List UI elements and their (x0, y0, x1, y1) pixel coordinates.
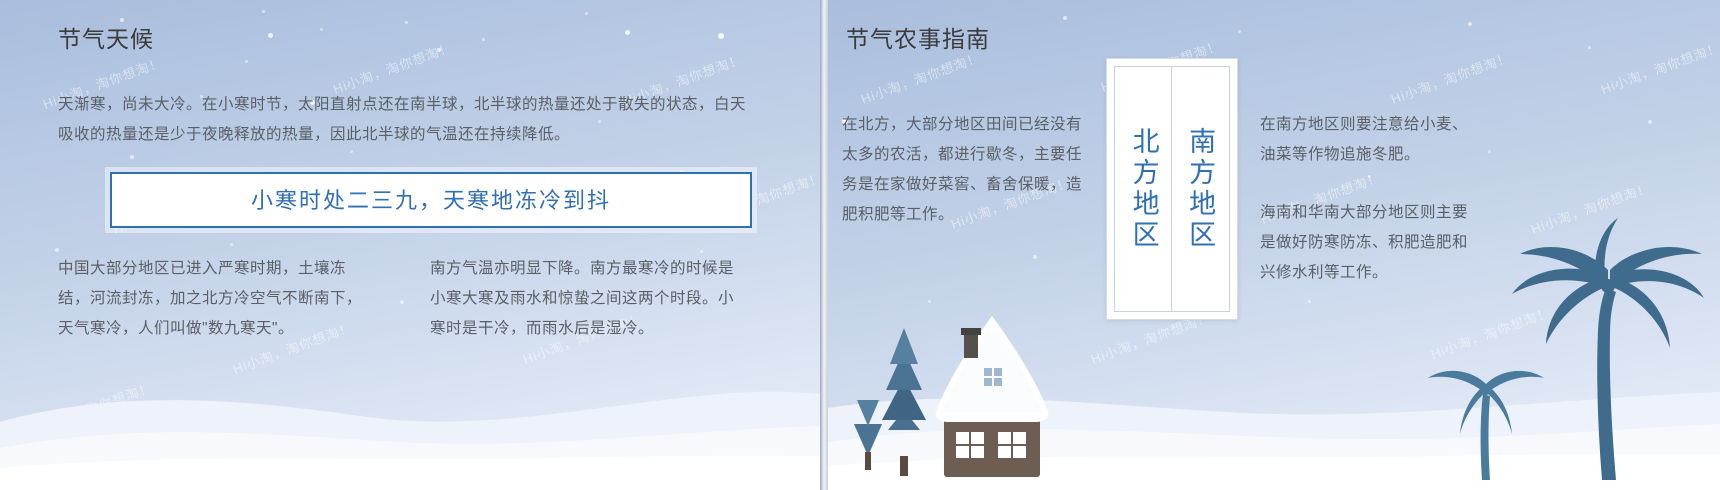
snow-dot (1648, 120, 1652, 124)
right-page: Hi小淘，淘你想淘！ Hi小淘，淘你想淘！ Hi小淘，淘你想淘！ Hi小淘，淘你… (828, 0, 1720, 490)
sign-north-label: 北方地区 (1128, 127, 1157, 251)
left-page-title: 节气天候 (58, 20, 758, 54)
quote-text: 小寒时处二三九，天寒地冻冷到抖 (126, 183, 736, 215)
left-column-south-text: 南方气温亦明显下降。南方最寒冷的时候是小寒大寒及雨水和惊蛰之间这两个时段。小寒时… (430, 254, 740, 344)
watermark: Hi小淘，淘你想淘！ (1388, 47, 1513, 108)
region-signboard: 北方地区 南方地区 (1106, 58, 1238, 320)
chimney (964, 332, 978, 358)
snow-dot (1368, 175, 1371, 178)
snow-dot (1588, 46, 1591, 49)
watermark: Hi小淘，淘你想淘！ (858, 47, 983, 108)
snow-dot (1063, 16, 1067, 20)
snow-dot (1488, 150, 1491, 153)
snow-dot (1468, 22, 1472, 26)
left-intro-paragraph: 天渐寒，尚未大冷。在小寒时节，太阳直射点还在南半球，北半球的热量还处于散失的状态… (58, 90, 748, 150)
snow-dot (1238, 30, 1241, 33)
left-column-north-text: 中国大部分地区已进入严寒时期，土壤冻结，河流封冻，加之北方冷空气不断南下，天气寒… (58, 254, 368, 344)
snow-dot (262, 10, 265, 13)
slide-canvas: Hi小淘，淘你想淘！ Hi小淘，淘你想淘！ Hi小淘，淘你想淘！ Hi小淘，淘你… (0, 0, 1720, 490)
right-column-south-text-2: 海南和华南大部分地区则主要是做好防寒防冻、积肥造肥和兴修水利等工作。 (1260, 198, 1475, 288)
right-column-south-text-1: 在南方地区则要注意给小麦、油菜等作物追施冬肥。 (1260, 110, 1475, 170)
pine-tree (882, 328, 926, 476)
sign-panel-north[interactable]: 北方地区 (1115, 67, 1171, 311)
sign-panel-south[interactable]: 南方地区 (1171, 67, 1227, 311)
right-column-north-text: 在北方，大部分地区田间已经没有太多的农活，都进行歇冬，主要任务是在家做好菜窖、畜… (842, 110, 1082, 230)
watermark: Hi小淘，淘你想淘！ (1598, 37, 1720, 98)
right-page-title: 节气农事指南 (846, 20, 990, 54)
left-two-column-block: 中国大部分地区已进入严寒时期，土壤冻结，河流封冻，加之北方冷空气不断南下，天气寒… (58, 254, 758, 344)
snow-dot (1308, 300, 1311, 303)
left-column-south: 南方气温亦明显下降。南方最寒冷的时候是小寒大寒及雨水和惊蛰之间这两个时段。小寒时… (430, 254, 740, 344)
pine-tree (854, 400, 882, 470)
snow-dot (585, 12, 588, 15)
left-column-north: 中国大部分地区已进入严寒时期，土壤冻结，河流封冻，加之北方冷空气不断南下，天气寒… (58, 254, 368, 344)
watermark: Hi小淘，淘你想淘！ (30, 377, 155, 438)
sign-south-label: 南方地区 (1185, 127, 1214, 251)
left-page-content: 节气天候 天渐寒，尚未大冷。在小寒时节，太阳直射点还在南半球，北半球的热量还处于… (58, 20, 758, 344)
snow-dot (1033, 255, 1037, 259)
snow-hill (0, 330, 820, 490)
snow-covered-house (848, 260, 1108, 490)
left-page: Hi小淘，淘你想淘！ Hi小淘，淘你想淘！ Hi小淘，淘你想淘！ Hi小淘，淘你… (0, 0, 820, 490)
page-gutter (820, 0, 828, 490)
signboard-inner: 北方地区 南方地区 (1114, 66, 1230, 312)
quote-box: 小寒时处二三九，天寒地冻冷到抖 (110, 172, 752, 228)
